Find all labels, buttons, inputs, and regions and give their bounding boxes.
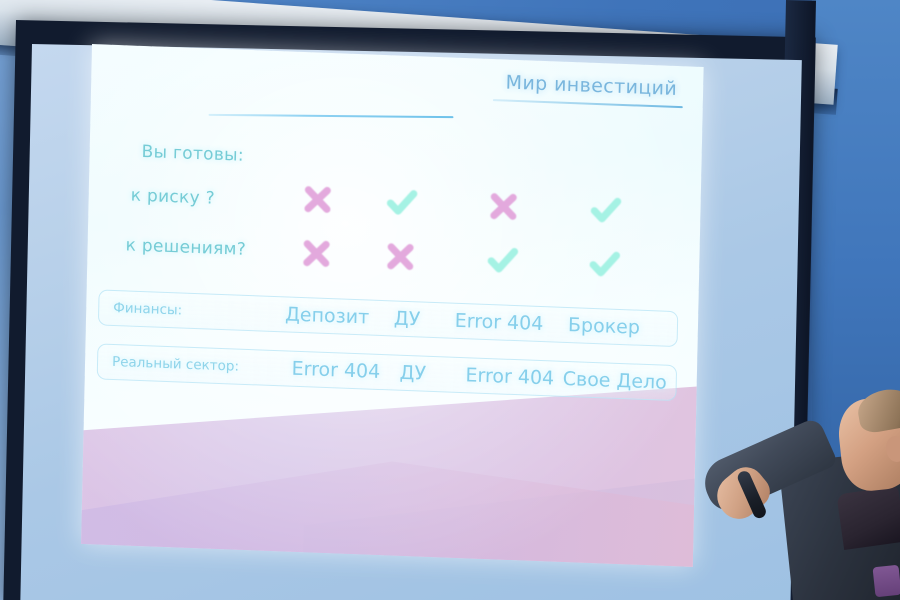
category-row-real-sector: Реальный сектор: Error 404ДУError 404Сво… <box>97 343 677 401</box>
cross-icon <box>299 236 334 271</box>
check-icon <box>587 247 622 282</box>
presenter-tie <box>873 565 900 598</box>
slide-top-divider <box>209 114 454 118</box>
check-icon <box>384 185 419 220</box>
check-icon <box>588 193 623 228</box>
category-cell-finance-1: Депозит <box>285 303 370 328</box>
check-icon <box>485 243 520 278</box>
title-underline <box>493 99 683 108</box>
cross-icon <box>383 239 418 274</box>
category-cell-real-sector-2: ДУ <box>399 362 426 385</box>
presenter-hand <box>708 460 776 527</box>
question-intro-label: Вы готовы: <box>141 142 244 166</box>
question-decisions-label: к решениям? <box>125 235 246 260</box>
category-cell-real-sector-1: Error 404 <box>291 358 380 383</box>
category-cell-finance-2: ДУ <box>394 307 421 330</box>
projected-slide: Мир инвестиций Вы готовы: к риску ? к ре… <box>81 44 704 567</box>
screenshot-stage: Мир инвестиций Вы готовы: к риску ? к ре… <box>0 0 900 600</box>
category-cell-real-sector-3: Error 404 <box>465 364 554 389</box>
slide-content: Мир инвестиций Вы готовы: к риску ? к ре… <box>81 44 704 567</box>
presenter <box>690 380 900 600</box>
cross-icon <box>300 182 335 217</box>
category-cells-real-sector: Error 404ДУError 404Свое Дело <box>98 344 670 399</box>
slide-title: Мир инвестиций <box>505 72 677 100</box>
category-cell-finance-4: Брокер <box>568 314 640 339</box>
category-cell-real-sector-4: Свое Дело <box>563 368 668 394</box>
cross-icon <box>486 189 521 224</box>
question-risk-label: к риску ? <box>130 186 215 209</box>
presentation-pointer-icon <box>736 469 768 520</box>
presenter-collar <box>836 486 900 550</box>
category-cells-finance: ДепозитДУError 404Брокер <box>99 290 671 345</box>
category-row-finance: Финансы: ДепозитДУError 404Брокер <box>98 289 678 347</box>
presenter-hair <box>855 385 900 434</box>
category-cell-finance-3: Error 404 <box>454 310 543 335</box>
